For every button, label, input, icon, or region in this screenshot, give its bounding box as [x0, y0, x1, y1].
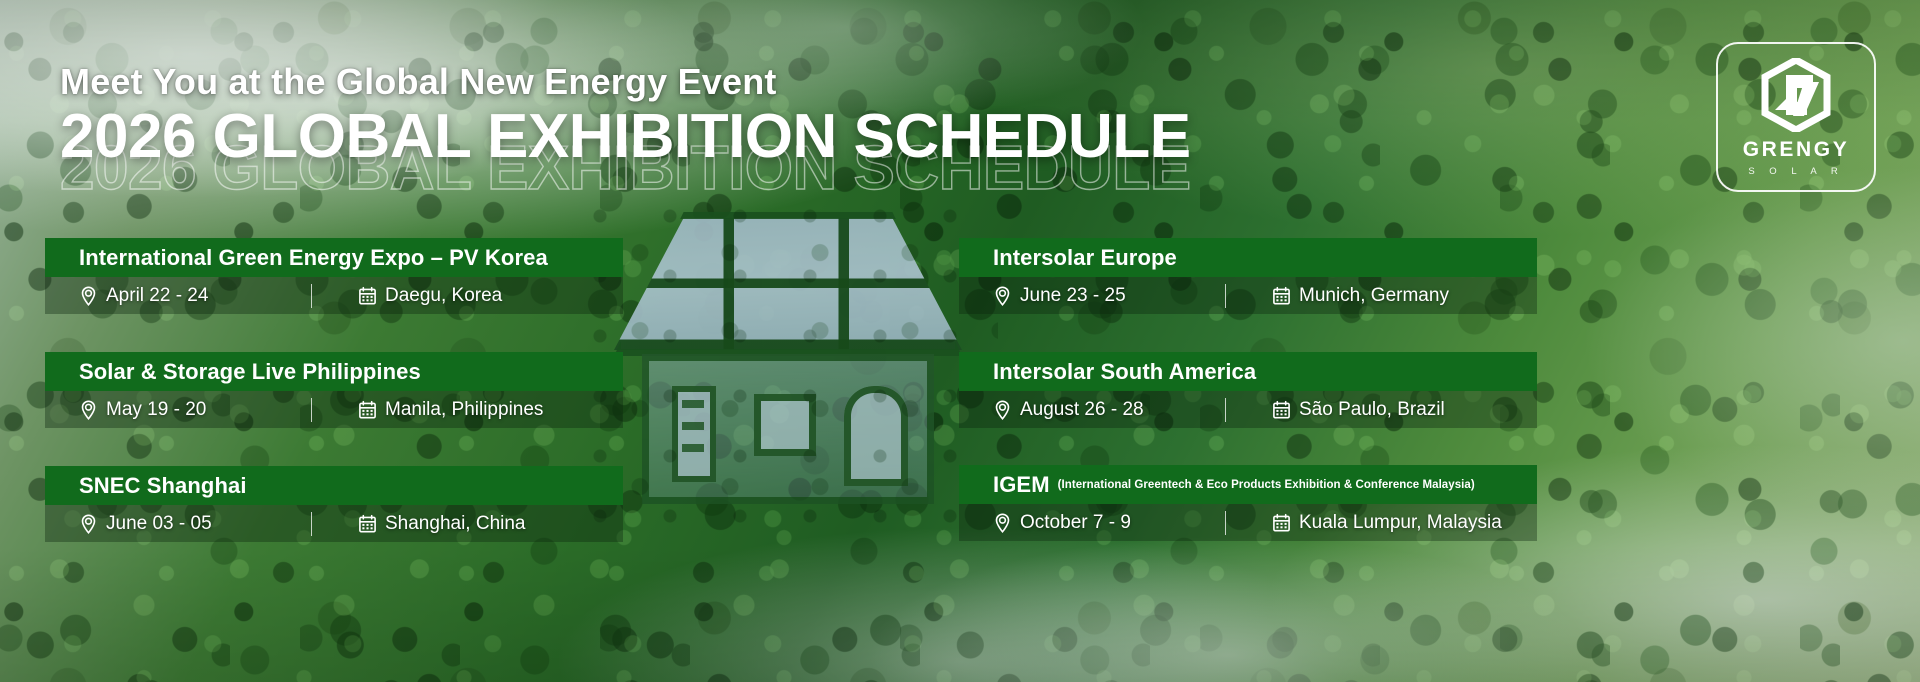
- event-location: Shanghai, China: [358, 513, 526, 535]
- calendar-icon: [358, 400, 377, 420]
- schedule-column-left: International Green Energy Expo – PV Kor…: [45, 238, 623, 542]
- grengy-hexagon-g-monogram-icon: [1757, 58, 1835, 132]
- headline-title-wrap: 2026 GLOBAL EXHIBITION SCHEDULE 2026 GLO…: [60, 106, 1191, 180]
- logo-brand-name: GRENGY: [1743, 138, 1850, 162]
- headline-kicker: Meet You at the Global New Energy Event: [60, 63, 1191, 102]
- event-date: August 26 - 28: [993, 399, 1225, 421]
- event-card[interactable]: Intersolar South America August 26 - 28: [959, 352, 1537, 428]
- cell-divider: [311, 398, 312, 422]
- cell-divider: [311, 512, 312, 536]
- location-pin-icon: [79, 400, 98, 420]
- event-header: Intersolar Europe: [959, 238, 1537, 277]
- event-card[interactable]: International Green Energy Expo – PV Kor…: [45, 238, 623, 314]
- event-name: SNEC Shanghai: [79, 473, 247, 499]
- column-gap: [959, 314, 1537, 352]
- event-date-text: June 23 - 25: [1020, 285, 1126, 307]
- column-gap: [959, 428, 1537, 465]
- event-location-text: Munich, Germany: [1299, 285, 1449, 307]
- brand-logo[interactable]: GRENGY S O L A R: [1716, 42, 1876, 192]
- event-location-text: Kuala Lumpur, Malaysia: [1299, 512, 1502, 534]
- cell-divider: [1225, 511, 1226, 535]
- event-date-text: August 26 - 28: [1020, 399, 1144, 421]
- schedule-column-right: Intersolar Europe June 23 - 25: [959, 238, 1537, 541]
- event-card[interactable]: IGEM (International Greentech & Eco Prod…: [959, 465, 1537, 541]
- calendar-icon: [358, 514, 377, 534]
- event-location: Daegu, Korea: [358, 285, 502, 307]
- headline-block: Meet You at the Global New Energy Event …: [60, 63, 1191, 180]
- event-details: August 26 - 28: [959, 391, 1537, 428]
- column-gap: [45, 428, 623, 466]
- event-date-text: May 19 - 20: [106, 399, 206, 421]
- event-date-text: June 03 - 05: [106, 513, 212, 535]
- event-name: International Green Energy Expo – PV Kor…: [79, 245, 548, 271]
- event-card[interactable]: Solar & Storage Live Philippines May 19 …: [45, 352, 623, 428]
- calendar-icon: [1272, 400, 1291, 420]
- event-header: International Green Energy Expo – PV Kor…: [45, 238, 623, 277]
- event-location: São Paulo, Brazil: [1272, 399, 1445, 421]
- location-pin-icon: [993, 286, 1012, 306]
- logo-brand-subtitle: S O L A R: [1748, 166, 1843, 177]
- column-gap: [45, 314, 623, 352]
- event-name: Intersolar Europe: [993, 245, 1177, 271]
- event-details: June 03 - 05: [45, 505, 623, 542]
- exhibition-schedule-banner: Meet You at the Global New Energy Event …: [0, 0, 1920, 682]
- location-pin-icon: [79, 514, 98, 534]
- event-header: Solar & Storage Live Philippines: [45, 352, 623, 391]
- calendar-icon: [1272, 513, 1291, 533]
- event-details: October 7 - 9: [959, 504, 1537, 541]
- event-header: SNEC Shanghai: [45, 466, 623, 505]
- event-location: Munich, Germany: [1272, 285, 1449, 307]
- cell-divider: [1225, 398, 1226, 422]
- event-name: IGEM: [993, 472, 1050, 498]
- event-location-text: Manila, Philippines: [385, 399, 543, 421]
- location-pin-icon: [993, 400, 1012, 420]
- event-details: June 23 - 25: [959, 277, 1537, 314]
- event-date-text: April 22 - 24: [106, 285, 208, 307]
- event-name-subtitle: (International Greentech & Eco Products …: [1058, 479, 1475, 491]
- event-date: October 7 - 9: [993, 512, 1225, 534]
- event-card[interactable]: SNEC Shanghai June 03 - 05: [45, 466, 623, 542]
- cell-divider: [311, 284, 312, 308]
- location-pin-icon: [79, 286, 98, 306]
- event-location: Manila, Philippines: [358, 399, 543, 421]
- event-date-text: October 7 - 9: [1020, 512, 1131, 534]
- event-card[interactable]: Intersolar Europe June 23 - 25: [959, 238, 1537, 314]
- event-details: April 22 - 24: [45, 277, 623, 314]
- event-date: June 23 - 25: [993, 285, 1225, 307]
- event-header: Intersolar South America: [959, 352, 1537, 391]
- event-date: June 03 - 05: [79, 513, 311, 535]
- calendar-icon: [358, 286, 377, 306]
- location-pin-icon: [993, 513, 1012, 533]
- event-location-text: Shanghai, China: [385, 513, 526, 535]
- event-location: Kuala Lumpur, Malaysia: [1272, 512, 1502, 534]
- event-header: IGEM (International Greentech & Eco Prod…: [959, 465, 1537, 504]
- calendar-icon: [1272, 286, 1291, 306]
- event-location-text: Daegu, Korea: [385, 285, 502, 307]
- cell-divider: [1225, 284, 1226, 308]
- event-date: April 22 - 24: [79, 285, 311, 307]
- page-title: 2026 GLOBAL EXHIBITION SCHEDULE: [60, 106, 1191, 168]
- event-date: May 19 - 20: [79, 399, 311, 421]
- event-name: Solar & Storage Live Philippines: [79, 359, 421, 385]
- event-location-text: São Paulo, Brazil: [1299, 399, 1445, 421]
- event-name: Intersolar South America: [993, 359, 1256, 385]
- event-details: May 19 - 20: [45, 391, 623, 428]
